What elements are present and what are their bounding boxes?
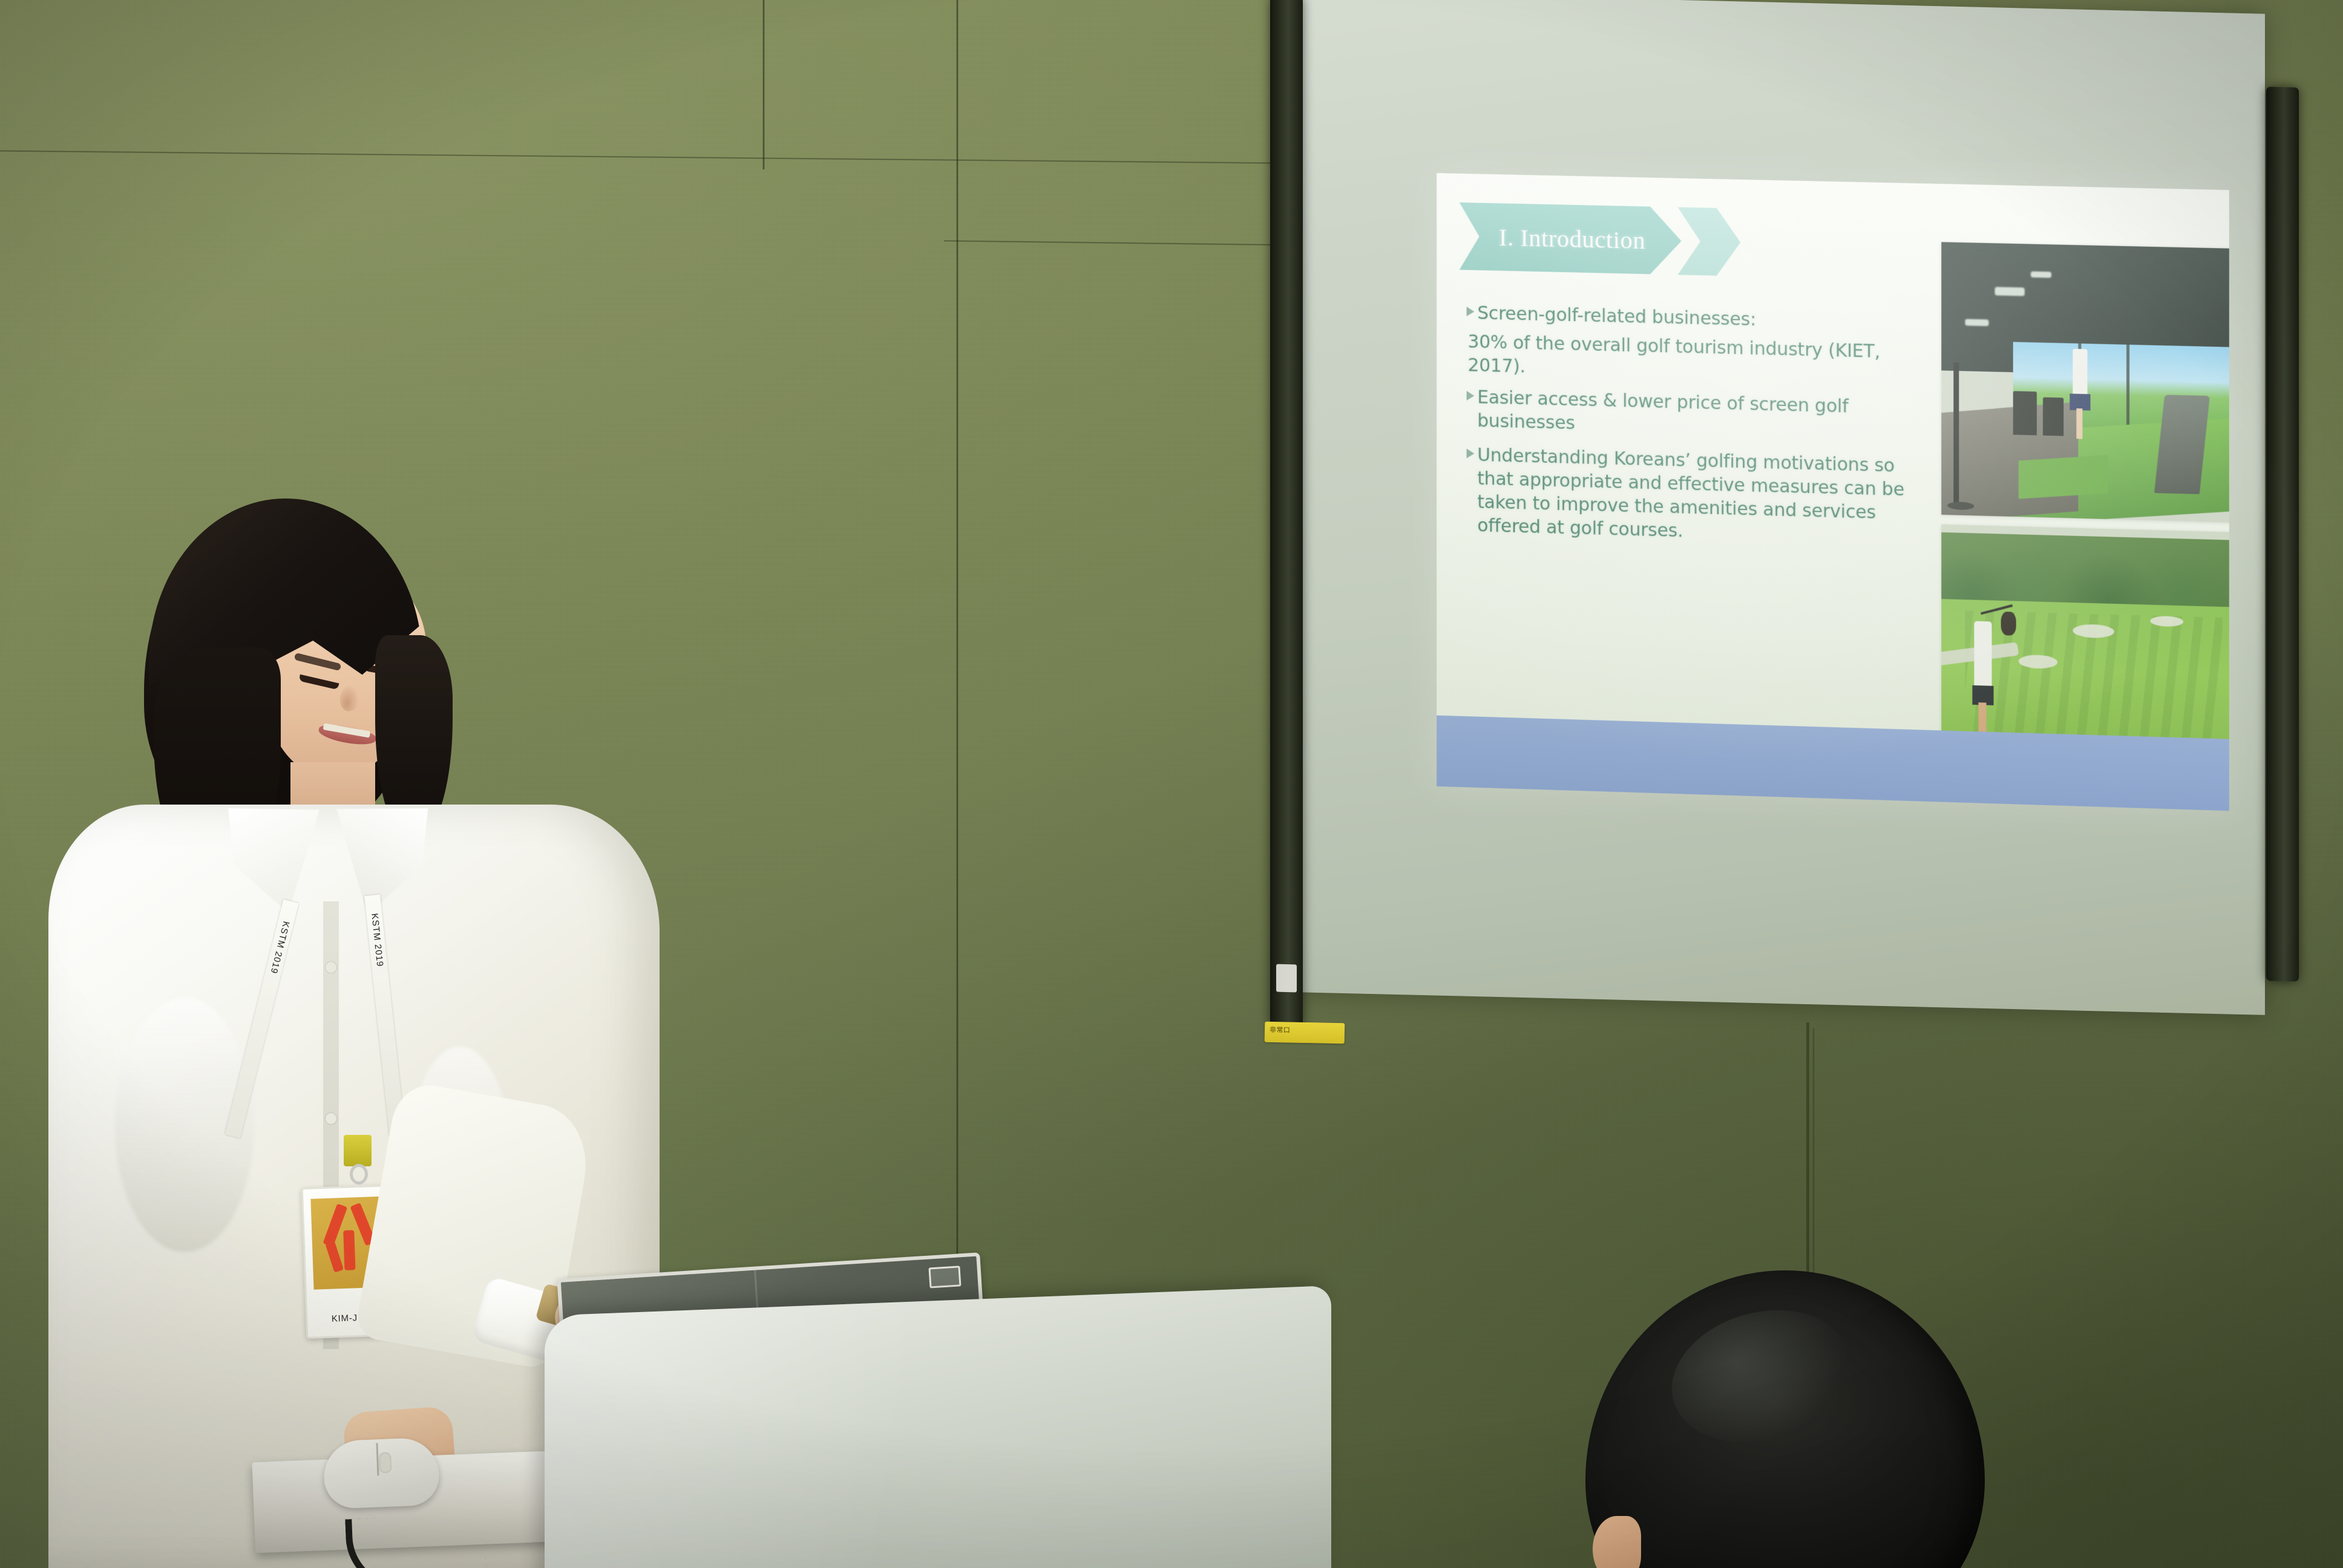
bullet-item-2: 30% of the overall golf tourism industry… bbox=[1468, 330, 1916, 388]
golfer-shirt bbox=[1974, 621, 1992, 690]
slide-title: I. Introduction bbox=[1499, 223, 1645, 255]
chevron-secondary bbox=[1678, 207, 1741, 276]
indoor-screen-golf-photo bbox=[1941, 242, 2229, 523]
slide-title-banner: I. Introduction bbox=[1460, 203, 1741, 276]
screen-edge-bar-right bbox=[2266, 87, 2299, 981]
bullet-text-4: Understanding Koreans’ golfing motivatio… bbox=[1477, 443, 1915, 549]
arrow-bullet-icon bbox=[1467, 449, 1475, 459]
golf-bag bbox=[2013, 391, 2036, 435]
computer-mouse[interactable] bbox=[323, 1437, 440, 1509]
hitting-mat bbox=[2019, 455, 2108, 498]
wall-warning-sticker: 非常口 bbox=[1265, 1022, 1345, 1044]
chevron-primary: I. Introduction bbox=[1460, 203, 1682, 275]
ceiling-cable bbox=[1806, 1022, 1809, 1276]
golfer-figure bbox=[2073, 349, 2088, 440]
emblem-stroke bbox=[325, 1241, 344, 1272]
bullet-item-1: Screen-golf-related businesses: bbox=[1467, 301, 1916, 335]
golfer-legs bbox=[2076, 408, 2082, 439]
bullet-text-2: 30% of the overall golf tourism industry… bbox=[1468, 330, 1916, 388]
golf-bag bbox=[2043, 397, 2064, 436]
ceiling-light-icon bbox=[2031, 272, 2052, 278]
mouse-scroll-wheel[interactable] bbox=[379, 1452, 392, 1474]
golfer-hair bbox=[2001, 612, 2016, 636]
slide-bullet-list: Screen-golf-related businesses: 30% of t… bbox=[1467, 301, 1916, 555]
bullet-text-3: Easier access & lower price of screen go… bbox=[1477, 386, 1915, 444]
golfer-figure bbox=[1974, 621, 1992, 745]
golfer-torso bbox=[2073, 349, 2088, 396]
bullet-item-3: Easier access & lower price of screen go… bbox=[1467, 385, 1916, 443]
emblem-stroke bbox=[343, 1230, 355, 1270]
lanyard-text-right: KSTM 2019 bbox=[369, 913, 385, 967]
podium-front-panel bbox=[545, 1285, 1331, 1568]
ceiling-light-icon bbox=[1995, 287, 2025, 296]
presentation-room-photo: 非常口 I. Introduction Screen-golf-related … bbox=[0, 0, 2343, 1568]
screen-tag-left bbox=[1276, 964, 1297, 993]
projected-slide: I. Introduction Screen-golf-related busi… bbox=[1437, 173, 2229, 811]
shirt-button bbox=[326, 962, 336, 973]
bay-divider bbox=[2126, 345, 2129, 438]
lanyard-ring bbox=[350, 1164, 368, 1184]
bullet-item-4: Understanding Koreans’ golfing motivatio… bbox=[1467, 443, 1916, 549]
screen-edge-bar-left bbox=[1270, 0, 1303, 1028]
black-cable bbox=[345, 1514, 487, 1568]
laptop-sticker-icon bbox=[928, 1266, 961, 1288]
audience-member bbox=[1561, 1246, 2021, 1568]
wall-seam-vertical-2 bbox=[762, 0, 765, 169]
stand-pole bbox=[1953, 362, 1959, 505]
shirt-button bbox=[326, 1113, 336, 1124]
ceiling-light-icon bbox=[1965, 319, 1989, 326]
bullet-text-1: Screen-golf-related businesses: bbox=[1477, 301, 1756, 332]
lanyard-clip bbox=[344, 1135, 372, 1166]
arrow-bullet-icon bbox=[1467, 307, 1475, 316]
wall-sticker-text: 非常口 bbox=[1265, 1022, 1345, 1036]
arrow-bullet-icon bbox=[1467, 391, 1475, 400]
